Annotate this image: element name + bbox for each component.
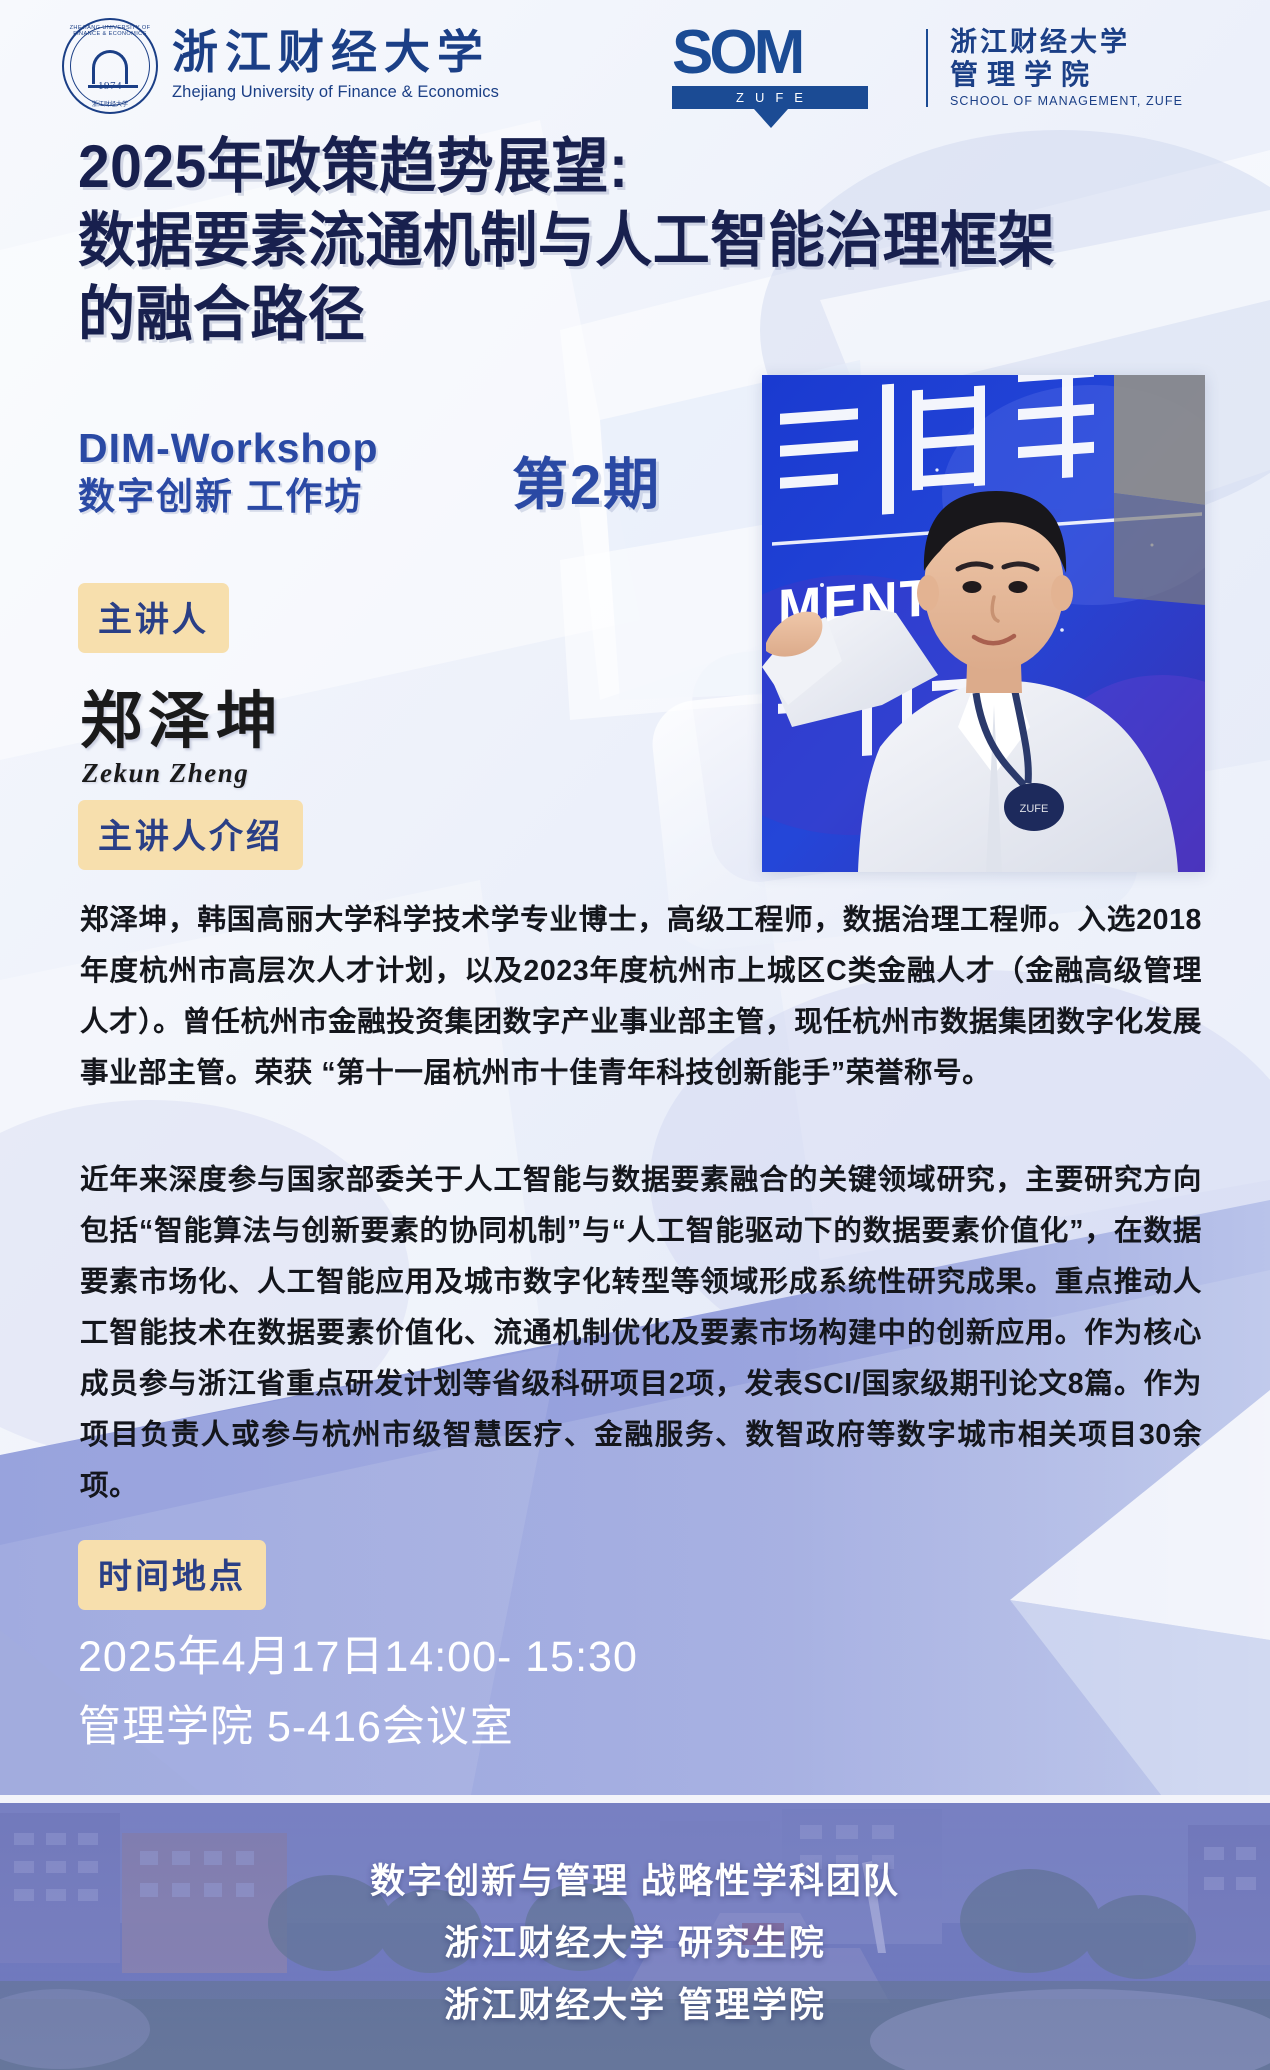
school-name-en: SCHOOL OF MANAGEMENT, ZUFE <box>950 95 1183 108</box>
footer-line-1: 数字创新与管理 战略性学科团队 <box>0 1851 1270 1913</box>
title-line-2: 数据要素流通机制与人工智能治理框架 <box>78 204 1152 278</box>
som-subbar: ZUFE <box>672 86 868 109</box>
school-name-cn-line1: 浙江财经大学 <box>950 28 1183 56</box>
speaker-name-cn: 郑泽坤 <box>80 670 284 760</box>
school-wordmark: 浙江财经大学 管理学院 SCHOOL OF MANAGEMENT, ZUFE <box>950 28 1183 109</box>
header: ZHEJIANG UNIVERSITY OF FINANCE & ECONOMI… <box>0 0 1270 132</box>
university-name-en: Zhejiang University of Finance & Economi… <box>172 83 499 102</box>
footer-line-3: 浙江财经大学 管理学院 <box>0 1975 1270 2037</box>
title-line-3: 的融合路径 <box>78 278 1152 352</box>
speaker-name-pinyin: Zekun Zheng <box>82 758 249 789</box>
workshop-issue-number: 第2期 <box>512 440 661 521</box>
som-mark-icon: SOM ZUFE <box>672 22 904 114</box>
som-wordmark: SOM <box>672 22 904 84</box>
svg-text:ZUFE: ZUFE <box>1020 803 1049 815</box>
workshop-series-en: DIM-Workshop <box>78 425 379 471</box>
poster-title: 2025年政策趋势展望: 数据要素流通机制与人工智能治理框架 的融合路径 <box>78 130 1208 352</box>
university-seal-icon: ZHEJIANG UNIVERSITY OF FINANCE & ECONOMI… <box>62 18 158 114</box>
seal-arc-text: ZHEJIANG UNIVERSITY OF FINANCE & ECONOMI… <box>64 25 156 37</box>
workshop-series-cn: 数字创新 工作坊 <box>78 474 379 520</box>
bio-paragraph-2: 近年来深度参与国家部委关于人工智能与数据要素融合的关键领域研究，主要研究方向包括… <box>80 1155 1202 1512</box>
seal-year: 1974 <box>64 80 156 92</box>
university-wordmark: 浙江财经大学 Zhejiang University of Finance & … <box>172 30 499 102</box>
speaker-intro-tag: 主讲人介绍 <box>78 800 303 870</box>
university-name-cn: 浙江财经大学 <box>172 30 499 76</box>
seal-arc-bottom-text: 浙江财经大学 <box>64 99 156 108</box>
workshop-series: DIM-Workshop 数字创新 工作坊 <box>78 425 379 520</box>
speaker-photo: MENT FOR <box>762 375 1205 872</box>
footer-text: 数字创新与管理 战略性学科团队 浙江财经大学 研究生院 浙江财经大学 管理学院 <box>0 1851 1270 2037</box>
school-logo: SOM ZUFE 浙江财经大学 管理学院 SCHOOL OF MANAGEMEN… <box>672 22 1183 114</box>
speaker-photo-image: MENT FOR <box>762 375 1205 872</box>
event-details: 2025年4月17日14:00- 15:30 管理学院 5-416会议室 <box>78 1622 638 1762</box>
event-datetime: 2025年4月17日14:00- 15:30 <box>78 1622 638 1692</box>
university-logo: ZHEJIANG UNIVERSITY OF FINANCE & ECONOMI… <box>62 18 499 114</box>
bio-paragraph-1: 郑泽坤，韩国高丽大学科学技术学专业博士，高级工程师，数据治理工程师。入选2018… <box>80 895 1202 1099</box>
seal-gate-icon <box>92 50 128 84</box>
school-name-cn-line2: 管理学院 <box>950 60 1183 89</box>
footer-line-2: 浙江财经大学 研究生院 <box>0 1913 1270 1975</box>
event-time-tag: 时间地点 <box>78 1540 266 1610</box>
speaker-tag: 主讲人 <box>78 583 229 653</box>
footer: 数字创新与管理 战略性学科团队 浙江财经大学 研究生院 浙江财经大学 管理学院 <box>0 1803 1270 2070</box>
poster-root: ZHEJIANG UNIVERSITY OF FINANCE & ECONOMI… <box>0 0 1270 2070</box>
event-venue: 管理学院 5-416会议室 <box>78 1692 638 1762</box>
title-line-1: 2025年政策趋势展望: <box>78 130 1152 204</box>
logo-divider <box>926 29 928 107</box>
